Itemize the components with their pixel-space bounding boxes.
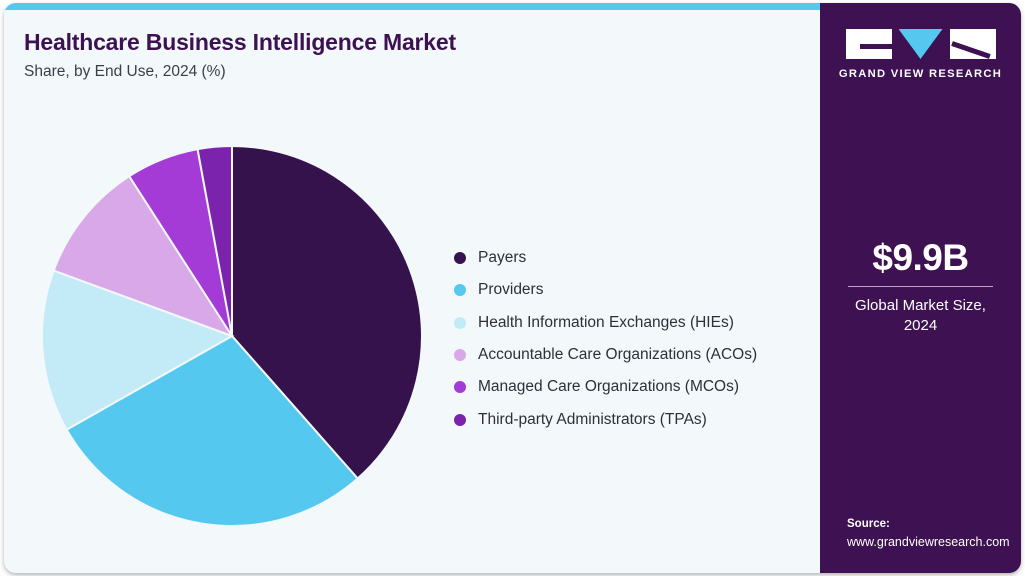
market-size-stat: $9.9B Global Market Size, 2024 xyxy=(820,239,1021,336)
legend-item[interactable]: Third-party Administrators (TPAs) xyxy=(454,403,757,435)
legend-swatch-icon xyxy=(454,381,466,393)
divider xyxy=(848,286,993,287)
logo-letter-g-icon xyxy=(846,29,892,59)
logo-wordmark: GRAND VIEW RESEARCH xyxy=(839,68,1002,80)
legend-item[interactable]: Managed Care Organizations (MCOs) xyxy=(454,371,757,403)
source-label: Source: xyxy=(847,516,1011,533)
card: Healthcare Business Intelligence Market … xyxy=(4,3,1021,573)
legend-item-label: Payers xyxy=(478,249,526,267)
pie-chart xyxy=(34,138,430,534)
legend-swatch-icon xyxy=(454,414,466,426)
chart-legend: PayersProvidersHealth Information Exchan… xyxy=(454,242,757,436)
logo-triangle-v-icon xyxy=(899,29,943,59)
market-size-caption: Global Market Size, 2024 xyxy=(820,296,1021,337)
logo-letter-r-icon xyxy=(950,29,996,59)
legend-item-label: Third-party Administrators (TPAs) xyxy=(478,411,707,429)
page-title: Healthcare Business Intelligence Market xyxy=(24,29,456,56)
legend-item-label: Accountable Care Organizations (ACOs) xyxy=(478,346,757,364)
legend-swatch-icon xyxy=(454,252,466,264)
pie-chart-svg xyxy=(34,138,430,534)
legend-item[interactable]: Health Information Exchanges (HIEs) xyxy=(454,307,757,339)
legend-item[interactable]: Accountable Care Organizations (ACOs) xyxy=(454,339,757,371)
legend-swatch-icon xyxy=(454,349,466,361)
market-size-value: $9.9B xyxy=(820,239,1021,278)
page-subtitle: Share, by End Use, 2024 (%) xyxy=(24,63,226,81)
legend-swatch-icon xyxy=(454,317,466,329)
source-block: Source: www.grandviewresearch.com xyxy=(847,516,1011,551)
legend-item[interactable]: Providers xyxy=(454,274,757,306)
chart-pane: Healthcare Business Intelligence Market … xyxy=(4,10,820,573)
legend-swatch-icon xyxy=(454,284,466,296)
source-url: www.grandviewresearch.com xyxy=(847,533,1011,551)
legend-item-label: Managed Care Organizations (MCOs) xyxy=(478,378,739,396)
legend-item-label: Health Information Exchanges (HIEs) xyxy=(478,314,734,332)
logo: GRAND VIEW RESEARCH xyxy=(820,29,1021,80)
legend-item[interactable]: Payers xyxy=(454,242,757,274)
brand-panel: GRAND VIEW RESEARCH $9.9B Global Market … xyxy=(820,3,1021,573)
legend-item-label: Providers xyxy=(478,281,543,299)
chart-infographic: Healthcare Business Intelligence Market … xyxy=(0,0,1025,576)
logo-marks xyxy=(846,29,996,59)
